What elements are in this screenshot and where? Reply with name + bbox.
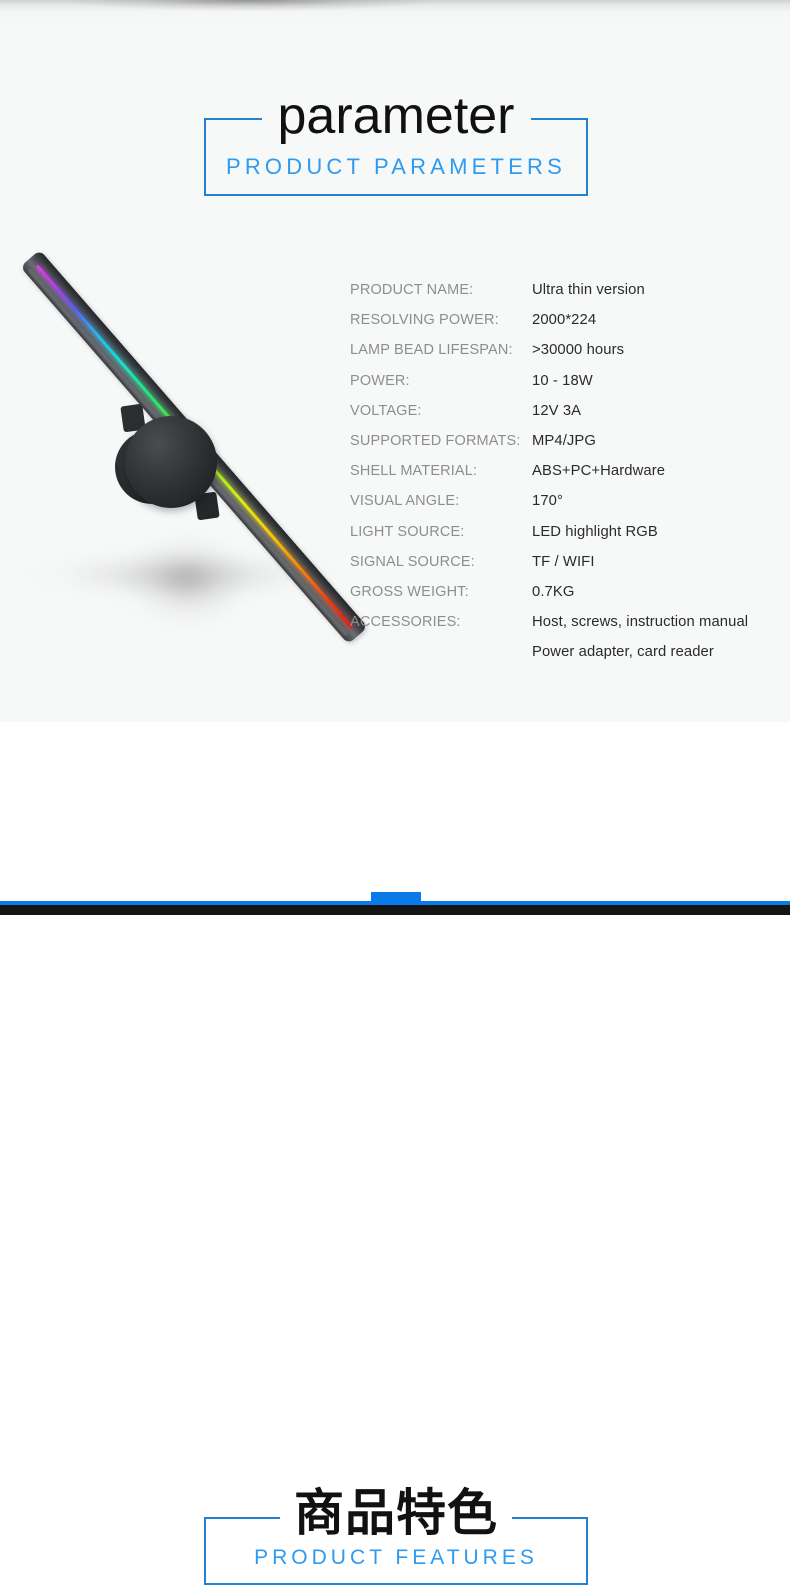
features-banner: 商品特色 PRODUCT FEATURES [204,1517,588,1585]
spec-row: POWER: 10 - 18W [350,373,780,403]
hub-tab-bottom [194,492,219,521]
spec-row: RESOLVING POWER: 2000*224 [350,312,780,342]
spec-row-continuation: Power adapter, card reader [350,644,780,674]
hub-tab-top [120,404,145,433]
spec-value: 2000*224 [532,312,596,328]
parameters-banner: parameter PRODUCT PARAMETERS [204,118,588,196]
features-banner-title: 商品特色 [206,1488,586,1538]
features-section: 商品特色 PRODUCT FEATURES [0,722,790,915]
spec-label: PRODUCT NAME: [350,282,473,298]
spec-value: ABS+PC+Hardware [532,463,665,479]
spec-row: VOLTAGE: 12V 3A [350,403,780,433]
rgb-led-strip [35,265,352,629]
motor-hub-back [115,430,189,504]
spec-value: 0.7KG [532,584,574,600]
motor-hub [125,416,217,508]
fan-blade [20,250,368,644]
spec-label: VISUAL ANGLE: [350,493,459,509]
spec-value: >30000 hours [532,342,624,358]
features-banner-subtitle: PRODUCT FEATURES [206,1546,586,1570]
spec-row: SUPPORTED FORMATS: MP4/JPG [350,433,780,463]
spec-label: GROSS WEIGHT: [350,584,469,600]
spec-value: Host, screws, instruction manual [532,614,748,630]
spec-value: 170° [532,493,563,509]
spec-label: VOLTAGE: [350,403,422,419]
spec-label: LAMP BEAD LIFESPAN: [350,342,513,358]
parameters-banner-subtitle: PRODUCT PARAMETERS [206,154,586,180]
fan-blade-assembly [0,215,400,695]
footer-dark-bar [0,905,790,915]
spec-label: SIGNAL SOURCE: [350,554,475,570]
product-image-holographic-led-fan [0,215,400,695]
spec-row: LAMP BEAD LIFESPAN: >30000 hours [350,342,780,372]
spec-value: TF / WIFI [532,554,595,570]
spec-value: Power adapter, card reader [532,644,714,660]
spec-row: SIGNAL SOURCE: TF / WIFI [350,554,780,584]
spec-row: ACCESSORIES: Host, screws, instruction m… [350,614,780,644]
spec-row: SHELL MATERIAL: ABS+PC+Hardware [350,463,780,493]
led-strip-glow [34,264,354,631]
spec-label: SUPPORTED FORMATS: [350,433,521,449]
spec-row: LIGHT SOURCE: LED highlight RGB [350,524,780,554]
spec-label: LIGHT SOURCE: [350,524,464,540]
spec-label: RESOLVING POWER: [350,312,499,328]
specification-list: PRODUCT NAME: Ultra thin version RESOLVI… [350,282,780,674]
spec-label: ACCESSORIES: [350,614,461,630]
spec-label: POWER: [350,373,410,389]
spec-value: Ultra thin version [532,282,645,298]
blade-highlight [28,269,348,636]
product-hub-shadow [120,533,255,628]
parameters-section: parameter PRODUCT PARAMETERS PRODUCT NAM… [0,0,790,722]
spec-value: 12V 3A [532,403,581,419]
parameters-banner-title: parameter [206,90,586,142]
spec-value: LED highlight RGB [532,524,658,540]
spec-value: 10 - 18W [532,373,593,389]
spec-value: MP4/JPG [532,433,596,449]
spec-row: PRODUCT NAME: Ultra thin version [350,282,780,312]
spec-row: GROSS WEIGHT: 0.7KG [350,584,780,614]
footer-accent-tab [371,892,421,905]
spec-row: VISUAL ANGLE: 170° [350,493,780,523]
spec-label: SHELL MATERIAL: [350,463,477,479]
product-shadow [5,515,345,635]
